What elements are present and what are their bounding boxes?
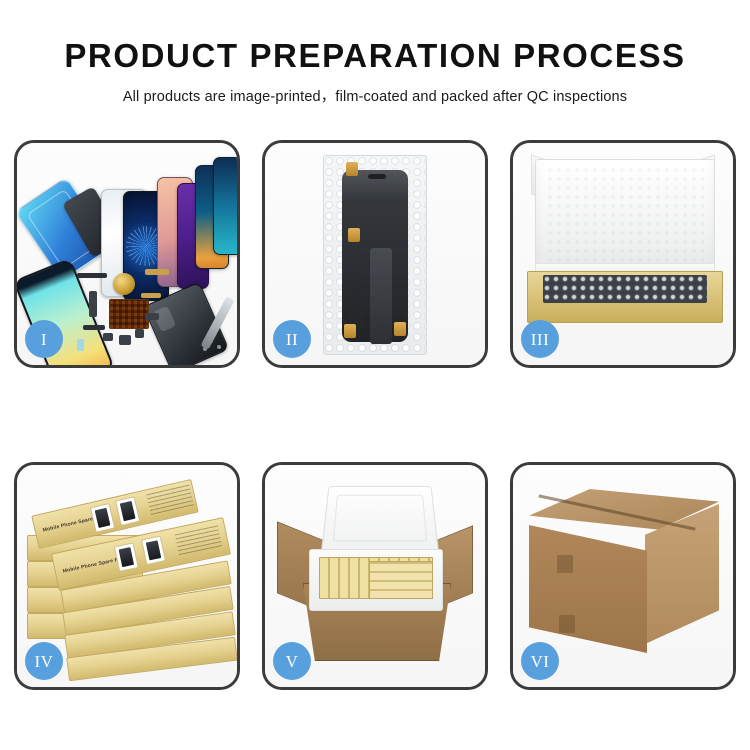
foam-lid-open [321, 486, 439, 552]
carton-tape-patch-bottom [559, 615, 575, 633]
step-panel-1[interactable]: I [14, 140, 240, 368]
box-window-1a [90, 503, 115, 533]
part-small-4 [135, 329, 144, 338]
part-small-6 [145, 313, 159, 320]
step-panel-3[interactable]: III [510, 140, 736, 368]
step-panel-4[interactable]: Mobile Phone Spare Parts Mobile Phone Sp… [14, 462, 240, 690]
step-badge-5: V [273, 642, 311, 680]
screw-2 [217, 345, 221, 349]
tape-tab-top [346, 162, 358, 176]
part-small-3 [119, 335, 131, 345]
part-small-2 [103, 333, 113, 341]
carton-tape-patch-top [557, 555, 573, 573]
box-spec-lines-1 [146, 485, 194, 516]
flex-cable-2 [141, 293, 161, 298]
carton-front-face [529, 525, 647, 653]
flex-cable-1 [145, 269, 169, 275]
chip-array-part [109, 299, 149, 329]
kraft-boxes-inside-row2 [369, 561, 433, 599]
box-window-2b [141, 536, 166, 566]
bubble-wrapped-contents [543, 275, 707, 303]
tape-tab-mid [348, 228, 360, 242]
box-window-1b [115, 496, 140, 526]
tape-tab-bottom-left [344, 324, 356, 338]
process-steps-grid: I II [14, 140, 736, 690]
step-badge-6: VI [521, 642, 559, 680]
sealed-carton [529, 489, 719, 659]
step-panel-2[interactable]: II [262, 140, 488, 368]
product-preparation-infographic: PRODUCT PREPARATION PROCESS All products… [0, 0, 750, 750]
box-window-2a [114, 542, 139, 572]
part-strip-2 [83, 325, 105, 330]
step-panel-6[interactable]: VI [510, 462, 736, 690]
part-strip-1 [77, 273, 107, 278]
box-spec-lines-2 [175, 525, 223, 556]
step-badge-1: I [25, 320, 63, 358]
speaker-coil-part [113, 273, 135, 295]
header: PRODUCT PREPARATION PROCESS All products… [0, 0, 750, 106]
wrapped-lcd-screen [342, 170, 408, 342]
step-badge-2: II [273, 320, 311, 358]
part-small-1 [89, 291, 97, 317]
step-badge-3: III [521, 320, 559, 358]
tape-tab-bottom-right [394, 322, 406, 336]
bubble-wrap-bag [323, 155, 427, 355]
screen-flex-cable [370, 248, 392, 344]
teal-phone-2 [213, 157, 240, 255]
page-subtitle: All products are image-printed，film-coat… [0, 85, 750, 106]
part-small-5 [77, 339, 84, 351]
kraft-box-stack: Mobile Phone Spare Parts Mobile Phone Sp… [27, 479, 233, 675]
page-title: PRODUCT PREPARATION PROCESS [0, 38, 750, 74]
step-badge-4: IV [25, 642, 63, 680]
step-panel-5[interactable]: V [262, 462, 488, 690]
